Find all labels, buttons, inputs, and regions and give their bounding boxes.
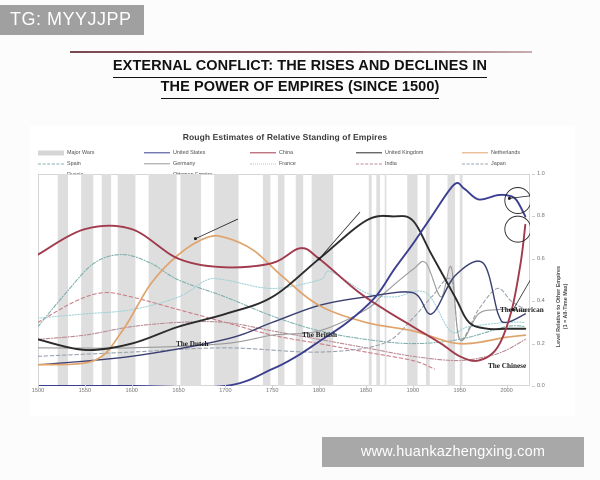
legend-label: Germany: [173, 161, 195, 167]
war-band: [385, 174, 387, 386]
y-tick-mark: [532, 301, 535, 302]
legend-label: Netherlands: [491, 150, 520, 156]
x-tick-mark: [38, 385, 39, 388]
y-tick-label: 1.0: [537, 171, 545, 177]
chart-series-canvas: [38, 174, 530, 386]
legend-item-france[interactable]: France: [250, 159, 356, 169]
legend-item-netherlands[interactable]: Netherlands: [462, 148, 568, 158]
x-tick-mark: [413, 385, 414, 388]
legend-label: United States: [173, 150, 205, 156]
x-tick-label: 1500: [32, 388, 44, 394]
y-tick-label: 0.0: [537, 383, 545, 389]
war-band: [369, 174, 372, 386]
legend-item-china[interactable]: China: [250, 148, 356, 158]
y-tick-mark: [532, 216, 535, 217]
legend-label: Spain: [67, 161, 81, 167]
war-band: [407, 174, 417, 386]
legend-label: China: [279, 150, 293, 156]
legend-item-major-wars[interactable]: Major Wars: [38, 148, 144, 158]
legend-item-united-states[interactable]: United States: [144, 148, 250, 158]
legend-swatch-icon: [356, 161, 382, 167]
chart-title: Rough Estimates of Relative Standing of …: [30, 132, 540, 142]
x-tick-label: 2000: [500, 388, 512, 394]
legend-swatch-icon: [356, 150, 382, 156]
legend-swatch-icon: [250, 150, 276, 156]
legend-swatch-icon: [462, 150, 488, 156]
x-tick-mark: [272, 385, 273, 388]
x-tick-mark: [460, 385, 461, 388]
x-tick-mark: [507, 385, 508, 388]
legend-item-japan[interactable]: Japan: [462, 159, 568, 169]
x-tick-label: 1950: [453, 388, 465, 394]
y-tick-mark: [532, 174, 535, 175]
legend-label: India: [385, 161, 397, 167]
highlight-circle: [505, 216, 530, 242]
war-band: [460, 174, 463, 386]
chart-plot-area: [38, 174, 530, 386]
war-band: [278, 174, 285, 386]
legend-item-germany[interactable]: Germany: [144, 159, 250, 169]
x-tick-label: 1900: [407, 388, 419, 394]
y-axis-title: Level Relative to Other Empires (1 = All…: [556, 266, 570, 347]
y-tick-label: 0.6: [537, 256, 545, 262]
legend-swatch-icon: [38, 150, 64, 156]
annotation-the-dutch: The Dutch: [176, 340, 209, 348]
y-tick-mark: [532, 386, 535, 387]
war-band: [58, 174, 68, 386]
x-tick-mark: [366, 385, 367, 388]
y-tick-mark: [532, 344, 535, 345]
war-band: [263, 174, 270, 386]
y-tick-mark: [532, 259, 535, 260]
title-divider: [70, 51, 532, 53]
page-title-line2: THE POWER OF EMPIRES (SINCE 1500): [161, 78, 440, 99]
legend-item-spain[interactable]: Spain: [38, 159, 144, 169]
x-tick-label: 1600: [125, 388, 137, 394]
x-tick-mark: [85, 385, 86, 388]
x-tick-mark: [319, 385, 320, 388]
annotation-the-chinese: The Chinese: [488, 362, 526, 370]
site-watermark: www.huankazhengxing.com: [322, 437, 584, 467]
legend-swatch-icon: [144, 150, 170, 156]
x-tick-label: 1550: [79, 388, 91, 394]
legend-swatch-icon: [462, 161, 488, 167]
x-tick-mark: [132, 385, 133, 388]
x-tick-mark: [179, 385, 180, 388]
y-tick-label: 0.2: [537, 341, 545, 347]
telegram-watermark: TG: MYYJJPP: [0, 5, 144, 35]
annotation-arrow-head: [508, 197, 511, 200]
war-band: [180, 174, 201, 386]
legend-item-united-kingdom[interactable]: United Kingdom: [356, 148, 462, 158]
war-band: [426, 174, 430, 386]
war-band: [102, 174, 111, 386]
x-tick-label: 1650: [172, 388, 184, 394]
legend-label: Japan: [491, 161, 506, 167]
legend-swatch-icon: [38, 161, 64, 167]
annotation-the-british: The British: [302, 331, 337, 339]
legend-swatch-icon: [144, 161, 170, 167]
y-axis: 0.00.20.40.60.81.0: [532, 174, 558, 386]
annotation-arrow-head: [194, 237, 197, 240]
annotation-arrow-head: [318, 257, 321, 260]
x-tick-label: 1850: [360, 388, 372, 394]
annotation-the-american: The American: [500, 306, 544, 314]
y-tick-label: 0.4: [537, 298, 545, 304]
x-tick-label: 1800: [313, 388, 325, 394]
war-band: [118, 174, 136, 386]
legend-swatch-icon: [250, 161, 276, 167]
x-tick-label: 1750: [266, 388, 278, 394]
legend-item-india[interactable]: India: [356, 159, 462, 169]
legend-label: Major Wars: [67, 150, 94, 156]
chart-card: Rough Estimates of Relative Standing of …: [30, 126, 575, 416]
x-axis: 1500155016001650170017501800185019001950…: [38, 388, 530, 402]
page-title-line1: EXTERNAL CONFLICT: THE RISES AND DECLINE…: [113, 57, 487, 78]
x-tick-mark: [225, 385, 226, 388]
legend-label: France: [279, 161, 296, 167]
war-band: [312, 174, 334, 386]
page-title: EXTERNAL CONFLICT: THE RISES AND DECLINE…: [60, 57, 540, 99]
x-tick-label: 1700: [219, 388, 231, 394]
y-tick-label: 0.8: [537, 213, 545, 219]
legend-label: United Kingdom: [385, 150, 423, 156]
